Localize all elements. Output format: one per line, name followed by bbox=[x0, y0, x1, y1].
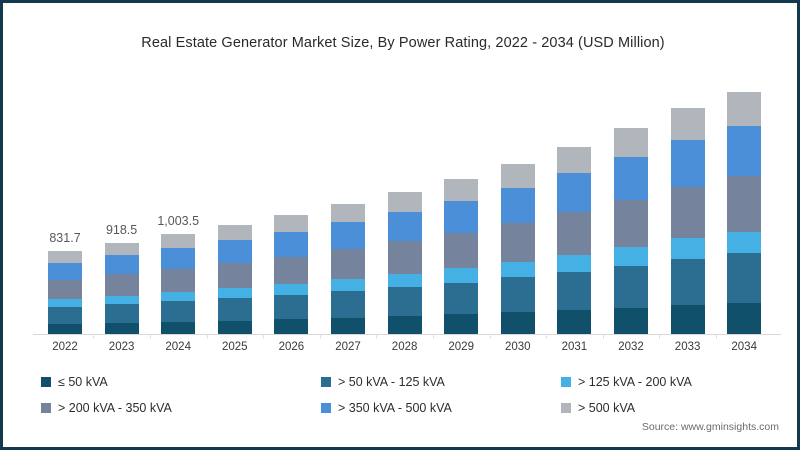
bar-segment[interactable] bbox=[671, 305, 705, 335]
bar-segment[interactable] bbox=[444, 179, 478, 201]
x-axis-tick-mark bbox=[490, 334, 491, 339]
legend-label: > 200 kVA - 350 kVA bbox=[58, 401, 172, 415]
bar-segment[interactable] bbox=[48, 307, 82, 324]
bar-segment[interactable] bbox=[105, 255, 139, 274]
legend-swatch-icon bbox=[321, 377, 331, 387]
bar-segment[interactable] bbox=[218, 288, 252, 298]
bar-segment[interactable] bbox=[331, 291, 365, 318]
bar-segment[interactable] bbox=[218, 225, 252, 240]
bar-segment[interactable] bbox=[274, 232, 308, 257]
stacked-bar[interactable] bbox=[274, 215, 308, 335]
x-axis-line bbox=[33, 334, 781, 335]
bar-segment[interactable] bbox=[105, 296, 139, 304]
bar-segment[interactable] bbox=[274, 215, 308, 232]
legend-item-2[interactable]: > 50 kVA - 125 kVA bbox=[321, 375, 561, 389]
bar-segment[interactable] bbox=[161, 301, 195, 322]
bar-segment[interactable] bbox=[557, 272, 591, 310]
bar-segment[interactable] bbox=[388, 212, 422, 241]
bar-segment[interactable] bbox=[557, 255, 591, 272]
bar-segment[interactable] bbox=[614, 308, 648, 335]
bar-segment[interactable] bbox=[331, 279, 365, 291]
bar-segment[interactable] bbox=[557, 310, 591, 335]
x-axis-tick-mark bbox=[376, 334, 377, 339]
x-axis-tick-label: 2034 bbox=[714, 341, 774, 353]
x-axis-tick-mark bbox=[263, 334, 264, 339]
bar-segment[interactable] bbox=[48, 280, 82, 299]
legend-item-3[interactable]: > 125 kVA - 200 kVA bbox=[561, 375, 761, 389]
bar-segment[interactable] bbox=[727, 176, 761, 231]
bar-segment[interactable] bbox=[614, 247, 648, 266]
legend-swatch-icon bbox=[321, 403, 331, 413]
bar-segment[interactable] bbox=[161, 248, 195, 269]
bar-segment[interactable] bbox=[671, 238, 705, 258]
stacked-bar[interactable] bbox=[671, 108, 705, 335]
x-axis-tick-mark bbox=[93, 334, 94, 339]
chart-legend: ≤ 50 kVA> 50 kVA - 125 kVA> 125 kVA - 20… bbox=[41, 369, 761, 421]
x-axis-tick-mark bbox=[603, 334, 604, 339]
legend-item-1[interactable]: ≤ 50 kVA bbox=[41, 375, 321, 389]
bar-segment[interactable] bbox=[614, 200, 648, 247]
x-axis-tick-label: 2024 bbox=[148, 341, 208, 353]
bar-segment[interactable] bbox=[161, 269, 195, 292]
bar-segment[interactable] bbox=[388, 316, 422, 335]
bar-segment[interactable] bbox=[218, 298, 252, 321]
legend-label: > 125 kVA - 200 kVA bbox=[578, 375, 692, 389]
x-axis-tick-label: 2033 bbox=[658, 341, 718, 353]
bar-segment[interactable] bbox=[218, 321, 252, 336]
bar-segment[interactable] bbox=[614, 266, 648, 308]
bar-segment[interactable] bbox=[331, 318, 365, 335]
chart-card: Real Estate Generator Market Size, By Po… bbox=[0, 0, 800, 450]
x-axis-tick-label: 2029 bbox=[431, 341, 491, 353]
bar-segment[interactable] bbox=[444, 268, 478, 282]
x-axis-tick-label: 2023 bbox=[92, 341, 152, 353]
legend-label: > 350 kVA - 500 kVA bbox=[338, 401, 452, 415]
bar-segment[interactable] bbox=[727, 92, 761, 126]
legend-item-6[interactable]: > 500 kVA bbox=[561, 401, 761, 415]
legend-label: > 50 kVA - 125 kVA bbox=[338, 375, 445, 389]
bar-segment[interactable] bbox=[501, 164, 535, 188]
bar-segment[interactable] bbox=[557, 212, 591, 255]
bar-segment[interactable] bbox=[105, 243, 139, 256]
bar-segment[interactable] bbox=[105, 274, 139, 295]
bar-segment[interactable] bbox=[161, 322, 195, 335]
bar-segment[interactable] bbox=[48, 263, 82, 280]
bar-segment[interactable] bbox=[331, 204, 365, 222]
bar-segment[interactable] bbox=[218, 240, 252, 263]
x-axis-tick-label: 2030 bbox=[488, 341, 548, 353]
bar-segment[interactable] bbox=[388, 287, 422, 316]
bar-segment[interactable] bbox=[274, 284, 308, 295]
stacked-bar[interactable] bbox=[331, 204, 365, 335]
legend-item-5[interactable]: > 350 kVA - 500 kVA bbox=[321, 401, 561, 415]
x-axis-tick-label: 2026 bbox=[261, 341, 321, 353]
bar-segment[interactable] bbox=[557, 173, 591, 212]
bar-segment[interactable] bbox=[614, 128, 648, 157]
stacked-bar[interactable] bbox=[218, 225, 252, 335]
x-axis-tick-mark bbox=[659, 334, 660, 339]
x-axis-tick-label: 2028 bbox=[375, 341, 435, 353]
bar-segment[interactable] bbox=[727, 253, 761, 303]
stacked-bar[interactable] bbox=[105, 243, 139, 335]
bar-segment[interactable] bbox=[501, 277, 535, 312]
x-axis-tick-mark bbox=[150, 334, 151, 339]
x-axis-tick-mark bbox=[546, 334, 547, 339]
bar-segment[interactable] bbox=[727, 126, 761, 176]
source-note: Source: www.gminsights.com bbox=[642, 421, 779, 433]
bar-segment[interactable] bbox=[48, 251, 82, 263]
bar-segment[interactable] bbox=[388, 192, 422, 212]
bar-segment[interactable] bbox=[161, 234, 195, 248]
stacked-bar[interactable] bbox=[727, 92, 761, 335]
bar-segment[interactable] bbox=[274, 257, 308, 284]
bar-segment[interactable] bbox=[671, 140, 705, 187]
bar-value-label: 1,003.5 bbox=[138, 214, 218, 228]
plot-area: 831.7918.51,003.5 bbox=[33, 73, 775, 335]
x-axis-tick-label: 2032 bbox=[601, 341, 661, 353]
stacked-bar[interactable] bbox=[614, 128, 648, 335]
stacked-bar[interactable] bbox=[48, 251, 82, 335]
bar-segment[interactable] bbox=[388, 241, 422, 274]
x-axis-tick-label: 2031 bbox=[544, 341, 604, 353]
bar-segment[interactable] bbox=[388, 274, 422, 287]
legend-swatch-icon bbox=[41, 403, 51, 413]
legend-swatch-icon bbox=[561, 403, 571, 413]
bar-segment[interactable] bbox=[727, 303, 761, 335]
legend-label: > 500 kVA bbox=[578, 401, 635, 415]
bar-segment[interactable] bbox=[671, 187, 705, 239]
bar-segment[interactable] bbox=[501, 262, 535, 277]
bar-segment[interactable] bbox=[274, 295, 308, 319]
bar-segment[interactable] bbox=[557, 147, 591, 174]
bar-segment[interactable] bbox=[48, 299, 82, 307]
legend-swatch-icon bbox=[561, 377, 571, 387]
bar-segment[interactable] bbox=[671, 108, 705, 140]
bar-segment[interactable] bbox=[444, 314, 478, 335]
x-axis-tick-mark bbox=[716, 334, 717, 339]
chart-title: Real Estate Generator Market Size, By Po… bbox=[3, 35, 800, 51]
x-axis-tick-label: 2025 bbox=[205, 341, 265, 353]
stacked-bar[interactable] bbox=[161, 234, 195, 335]
stacked-bar[interactable] bbox=[557, 147, 591, 335]
bar-segment[interactable] bbox=[331, 222, 365, 249]
bar-segment[interactable] bbox=[444, 283, 478, 315]
bar-segment[interactable] bbox=[161, 292, 195, 301]
bar-segment[interactable] bbox=[671, 259, 705, 305]
legend-label: ≤ 50 kVA bbox=[58, 375, 108, 389]
bar-segment[interactable] bbox=[501, 312, 535, 335]
legend-swatch-icon bbox=[41, 377, 51, 387]
x-axis-tick-mark bbox=[320, 334, 321, 339]
stacked-bar[interactable] bbox=[501, 164, 535, 335]
bar-segment[interactable] bbox=[501, 223, 535, 262]
legend-item-4[interactable]: > 200 kVA - 350 kVA bbox=[41, 401, 321, 415]
bar-segment[interactable] bbox=[614, 157, 648, 199]
bar-segment[interactable] bbox=[274, 319, 308, 335]
bar-segment[interactable] bbox=[444, 201, 478, 233]
stacked-bar[interactable] bbox=[388, 192, 422, 335]
bar-segment[interactable] bbox=[727, 232, 761, 254]
bar-segment[interactable] bbox=[444, 233, 478, 269]
x-axis-tick-label: 2027 bbox=[318, 341, 378, 353]
x-axis-tick-label: 2022 bbox=[35, 341, 95, 353]
bar-segment[interactable] bbox=[501, 188, 535, 223]
bar-segment[interactable] bbox=[105, 304, 139, 323]
stacked-bar[interactable] bbox=[444, 179, 478, 335]
x-axis-tick-mark bbox=[433, 334, 434, 339]
x-axis-tick-mark bbox=[207, 334, 208, 339]
bar-segment[interactable] bbox=[331, 249, 365, 279]
bar-segment[interactable] bbox=[218, 263, 252, 288]
